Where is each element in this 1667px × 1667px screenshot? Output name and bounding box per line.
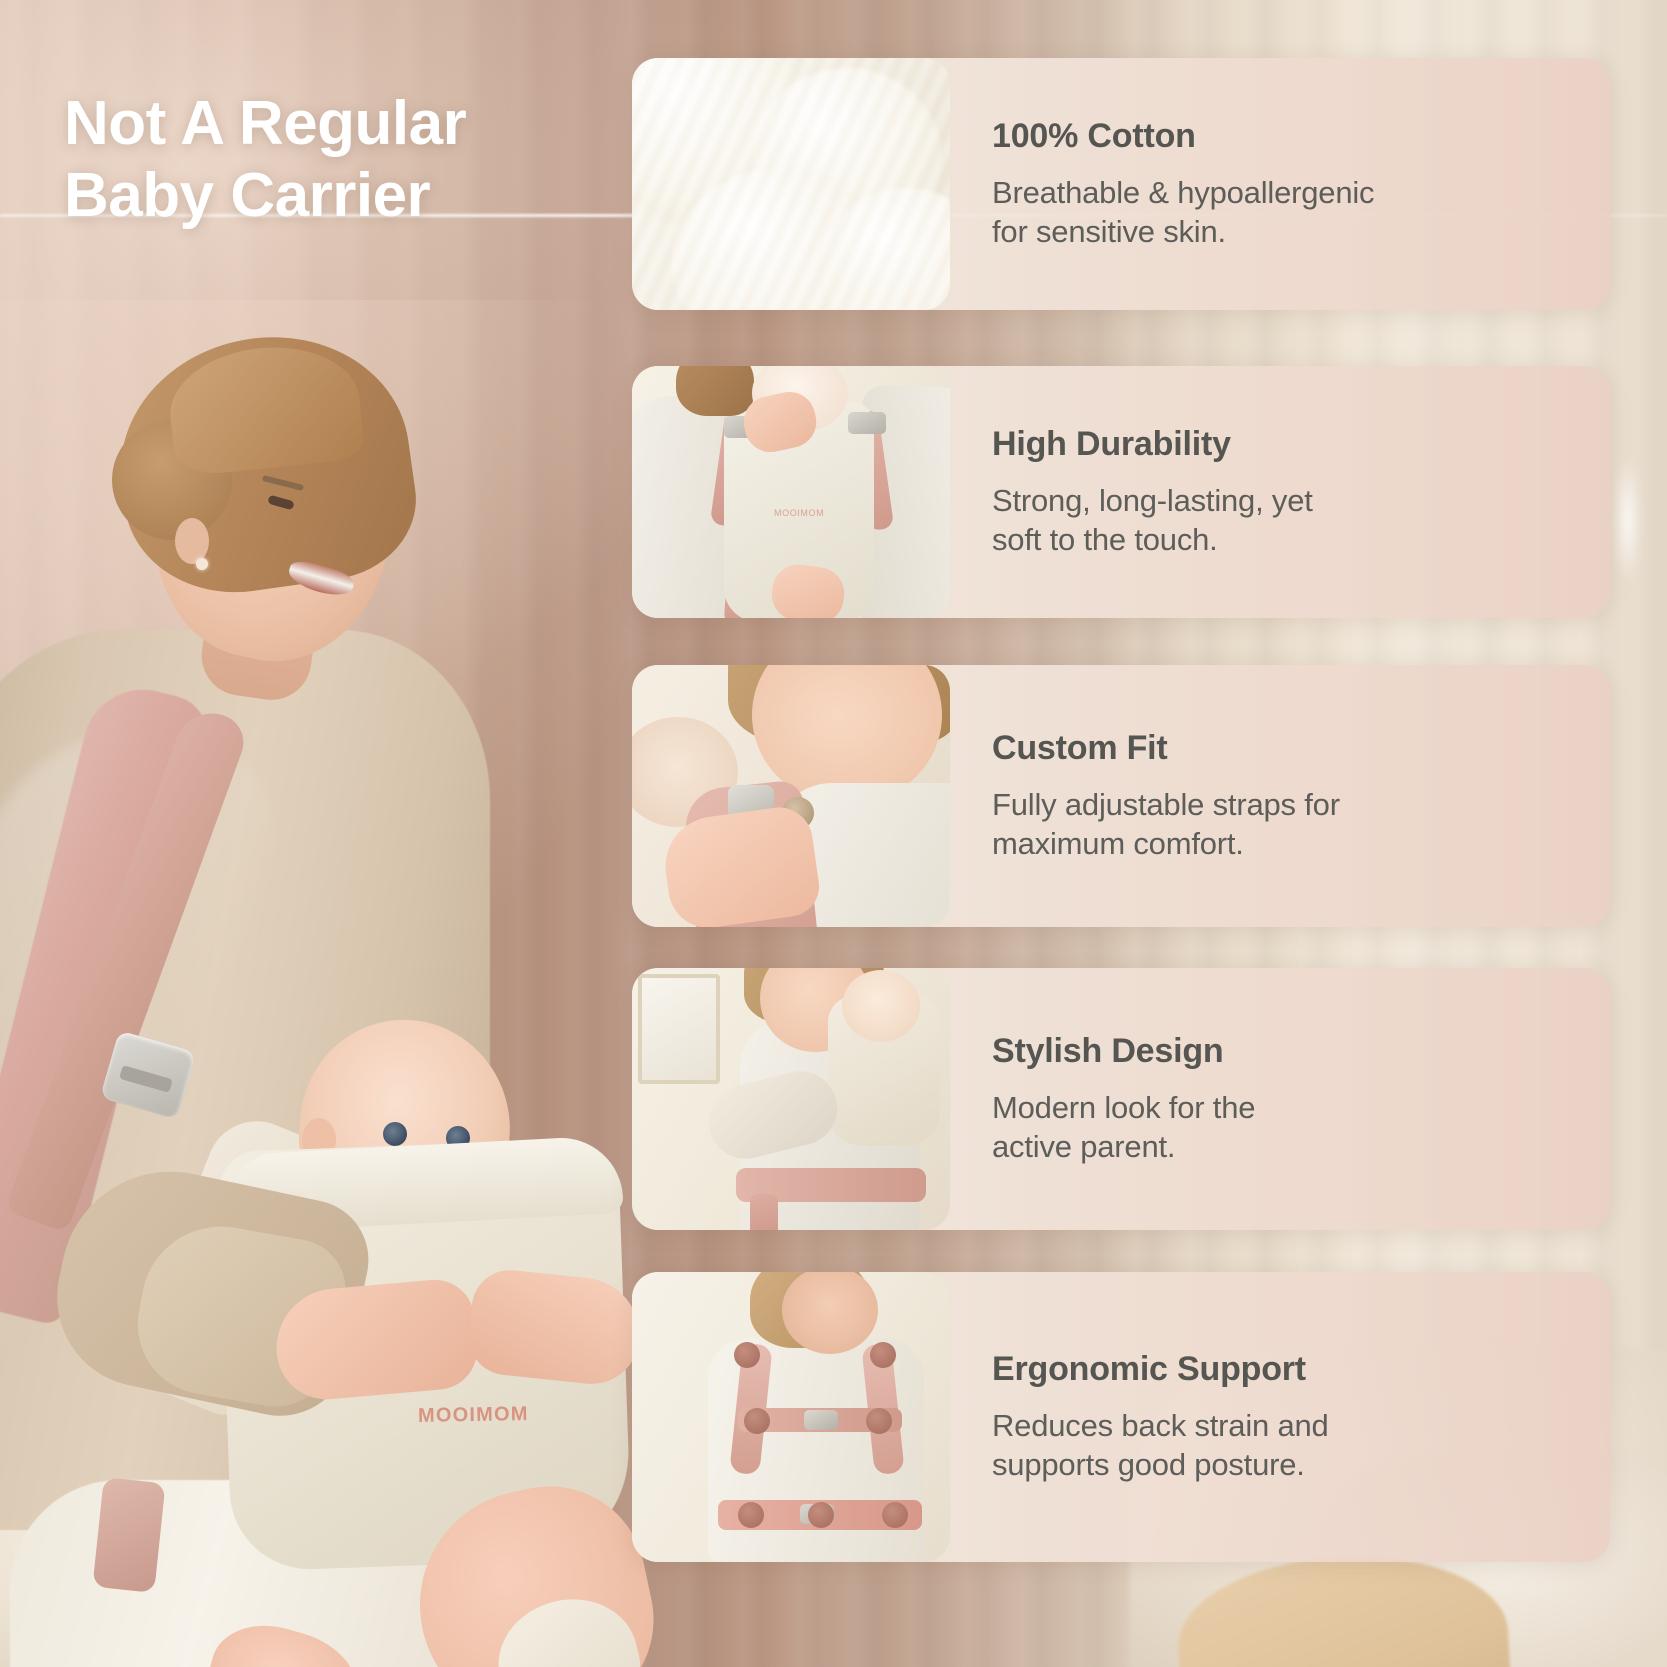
- feature-card[interactable]: Ergonomic Support Reduces back strain an…: [632, 1272, 1610, 1562]
- feature-text-block: 100% Cotton Breathable & hypoallergenic …: [950, 58, 1610, 310]
- feature-description-line-2: active parent.: [992, 1127, 1584, 1167]
- cotton-fibers-image: [632, 58, 950, 310]
- back-harness-image: [632, 1272, 950, 1562]
- feature-card[interactable]: Stylish Design Modern look for the activ…: [632, 968, 1610, 1230]
- feature-description-line-1: Modern look for the: [992, 1088, 1584, 1128]
- thumb-brand-logo: MOOIMOM: [774, 508, 824, 518]
- feature-description-line-2: supports good posture.: [992, 1445, 1584, 1485]
- headline-line-2: Baby Carrier: [64, 160, 624, 232]
- feature-card[interactable]: Custom Fit Fully adjustable straps for m…: [632, 665, 1610, 927]
- feature-title: Custom Fit: [992, 728, 1584, 769]
- feature-description: Modern look for the active parent.: [992, 1088, 1584, 1167]
- feature-thumbnail: [632, 1272, 950, 1562]
- feature-card[interactable]: 100% Cotton Breathable & hypoallergenic …: [632, 58, 1610, 310]
- feature-text-block: Stylish Design Modern look for the activ…: [950, 968, 1610, 1230]
- feature-card[interactable]: MOOIMOM High Durability Strong, long-las…: [632, 366, 1610, 618]
- page-title: Not A Regular Baby Carrier: [64, 88, 624, 232]
- feature-text-block: High Durability Strong, long-lasting, ye…: [950, 366, 1610, 618]
- feature-title: High Durability: [992, 424, 1584, 465]
- feature-description-line-1: Breathable & hypoallergenic: [992, 173, 1584, 213]
- feature-description-line-1: Fully adjustable straps for: [992, 785, 1584, 825]
- mother-hugging-baby-image: MOOIMOM: [632, 366, 950, 618]
- feature-description-line-2: for sensitive skin.: [992, 212, 1584, 252]
- feature-title: Stylish Design: [992, 1031, 1584, 1072]
- feature-description-line-2: soft to the touch.: [992, 520, 1584, 560]
- feature-description-line-2: maximum comfort.: [992, 824, 1584, 864]
- feature-text-block: Custom Fit Fully adjustable straps for m…: [950, 665, 1610, 927]
- feature-description: Strong, long-lasting, yet soft to the to…: [992, 481, 1584, 560]
- headline-line-1: Not A Regular: [64, 88, 624, 160]
- side-view-carry-image: [632, 968, 950, 1230]
- feature-thumbnail: [632, 665, 950, 927]
- feature-thumbnail: [632, 968, 950, 1230]
- feature-description-line-1: Strong, long-lasting, yet: [992, 481, 1584, 521]
- feature-title: Ergonomic Support: [992, 1349, 1584, 1390]
- feature-description: Fully adjustable straps for maximum comf…: [992, 785, 1584, 864]
- feature-description-line-1: Reduces back strain and: [992, 1406, 1584, 1446]
- feature-card-list: 100% Cotton Breathable & hypoallergenic …: [0, 0, 1667, 1667]
- feature-title: 100% Cotton: [992, 116, 1584, 157]
- feature-thumbnail: [632, 58, 950, 310]
- feature-text-block: Ergonomic Support Reduces back strain an…: [950, 1272, 1610, 1562]
- feature-description: Breathable & hypoallergenic for sensitiv…: [992, 173, 1584, 252]
- feature-description: Reduces back strain and supports good po…: [992, 1406, 1584, 1485]
- feature-thumbnail: MOOIMOM: [632, 366, 950, 618]
- strap-adjustment-image: [632, 665, 950, 927]
